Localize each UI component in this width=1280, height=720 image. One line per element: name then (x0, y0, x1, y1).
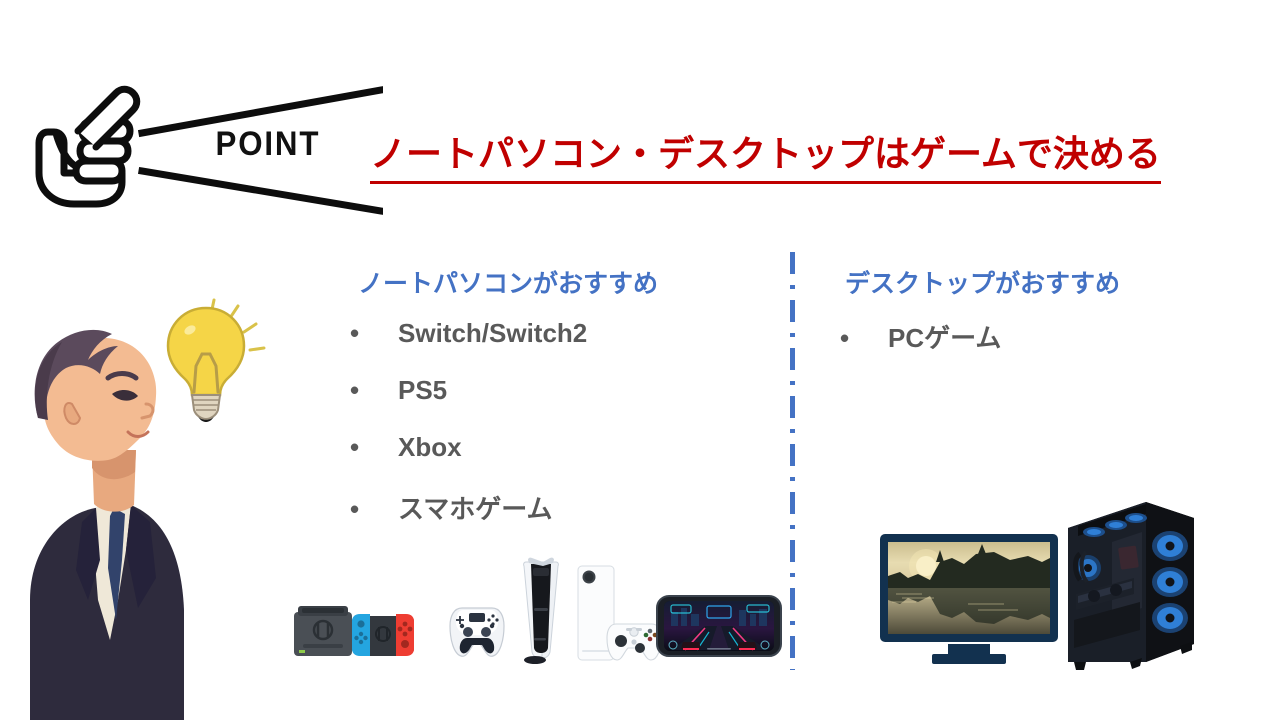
bullet-dot-icon: • (350, 320, 398, 346)
gaming-pc-tower-image (1060, 496, 1200, 672)
list-item-label: Xbox (398, 432, 462, 463)
bullet-dot-icon: • (350, 496, 398, 522)
slide-title: ノートパソコン・デスクトップはゲームで決める (370, 125, 1161, 184)
point-label: POINT (192, 125, 344, 164)
list-item: • PS5 (350, 375, 587, 432)
list-item-label: スマホゲーム (398, 489, 552, 526)
smartphone-game-image (655, 592, 783, 660)
column-divider (790, 252, 795, 670)
list-item: • スマホゲーム (350, 489, 587, 546)
left-column-list: • Switch/Switch2 • PS5 • Xbox • スマホゲーム (350, 318, 587, 546)
point-badge: POINT (30, 85, 360, 220)
nintendo-switch-image (290, 592, 440, 662)
bullet-dot-icon: • (350, 377, 398, 403)
bullet-dot-icon: • (350, 434, 398, 460)
xbox-console-image (572, 562, 662, 664)
lightbulb-idea-icon (158, 292, 276, 422)
list-item-label: Switch/Switch2 (398, 318, 587, 349)
list-item: • Switch/Switch2 (350, 318, 587, 375)
ps5-console-image (512, 556, 570, 664)
left-column-heading: ノートパソコンがおすすめ (358, 264, 658, 300)
list-item-label: PCゲーム (888, 318, 1001, 355)
ps5-controller-image (448, 600, 506, 662)
list-item: • PCゲーム (840, 318, 1001, 375)
desktop-monitor-image (878, 532, 1060, 666)
right-column-list: • PCゲーム (840, 318, 1001, 375)
slide-canvas: POINT ノートパソコン・デスクトップはゲームで決める ノートパソコンがおすす… (0, 0, 1280, 720)
list-item-label: PS5 (398, 375, 447, 406)
bullet-dot-icon: • (840, 325, 888, 351)
right-column-heading: デスクトップがおすすめ (845, 264, 1120, 300)
list-item: • Xbox (350, 432, 587, 489)
